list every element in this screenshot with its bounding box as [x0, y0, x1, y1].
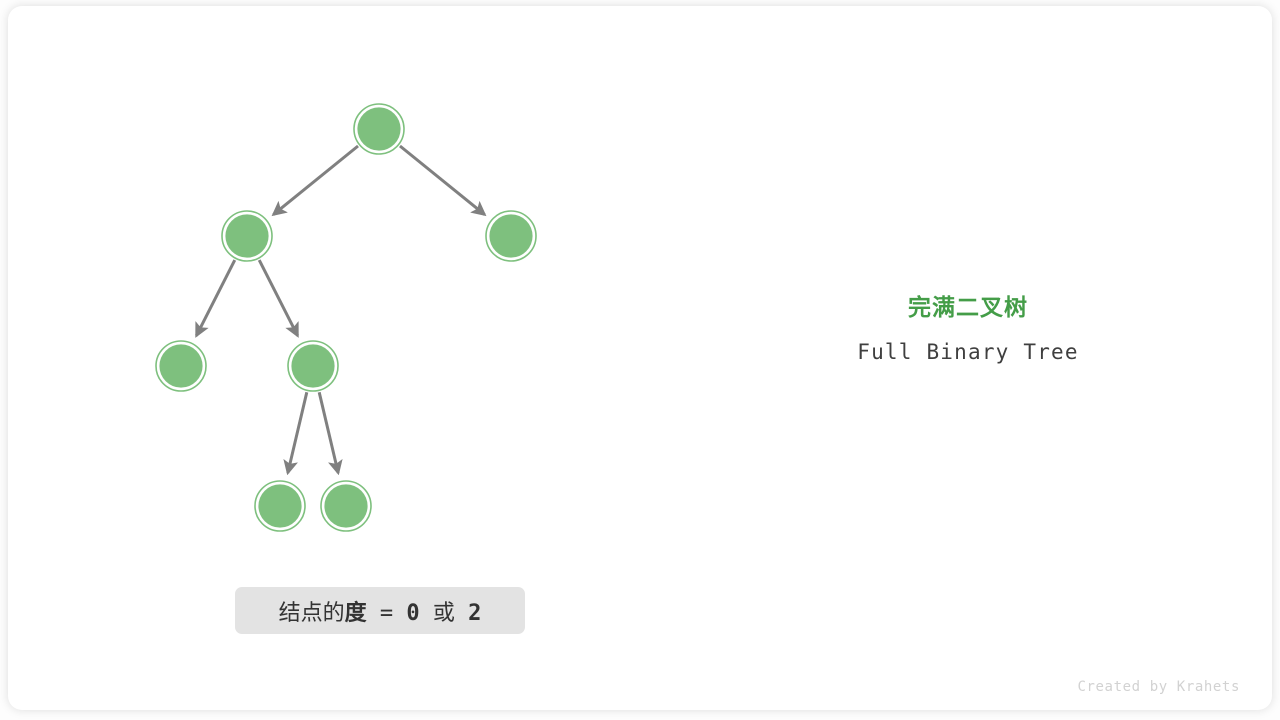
tree-edge [288, 392, 307, 473]
tree-node-layer [156, 104, 536, 531]
degree-label-text: 结点的度 = 0 或 2 [279, 595, 482, 627]
tree-node [486, 211, 536, 261]
degree-conjunction: 或 [420, 601, 469, 626]
diagram-stage: 完满二叉树 Full Binary Tree 结点的度 = 0 或 2 Crea… [0, 0, 1280, 720]
degree-equals: = [367, 601, 407, 626]
degree-label-box: 结点的度 = 0 或 2 [235, 587, 525, 634]
tree-node [222, 211, 272, 261]
tree-node [255, 481, 305, 531]
tree-node [321, 481, 371, 531]
footer-credit: Created by Krahets [1077, 679, 1240, 695]
caption-title-zh: 完满二叉树 [768, 292, 1168, 322]
node-fill [258, 484, 301, 527]
tree-node [354, 104, 404, 154]
tree-edge [259, 260, 297, 336]
degree-prefix: 结点的 [279, 601, 345, 626]
node-fill [324, 484, 367, 527]
caption-block: 完满二叉树 Full Binary Tree [768, 292, 1168, 366]
degree-value-b: 2 [468, 601, 481, 626]
caption-title-en: Full Binary Tree [768, 338, 1168, 366]
tree-edge [319, 392, 338, 473]
tree-edge [400, 146, 485, 215]
tree-node [288, 341, 338, 391]
tree-edge [196, 260, 234, 336]
tree-edge-layer [196, 146, 484, 473]
tree-edge [273, 146, 358, 215]
node-fill [225, 214, 268, 257]
node-fill [489, 214, 532, 257]
degree-value-a: 0 [406, 601, 419, 626]
node-fill [357, 107, 400, 150]
node-fill [291, 344, 334, 387]
tree-node [156, 341, 206, 391]
node-fill [159, 344, 202, 387]
degree-term: 度 [345, 601, 367, 626]
